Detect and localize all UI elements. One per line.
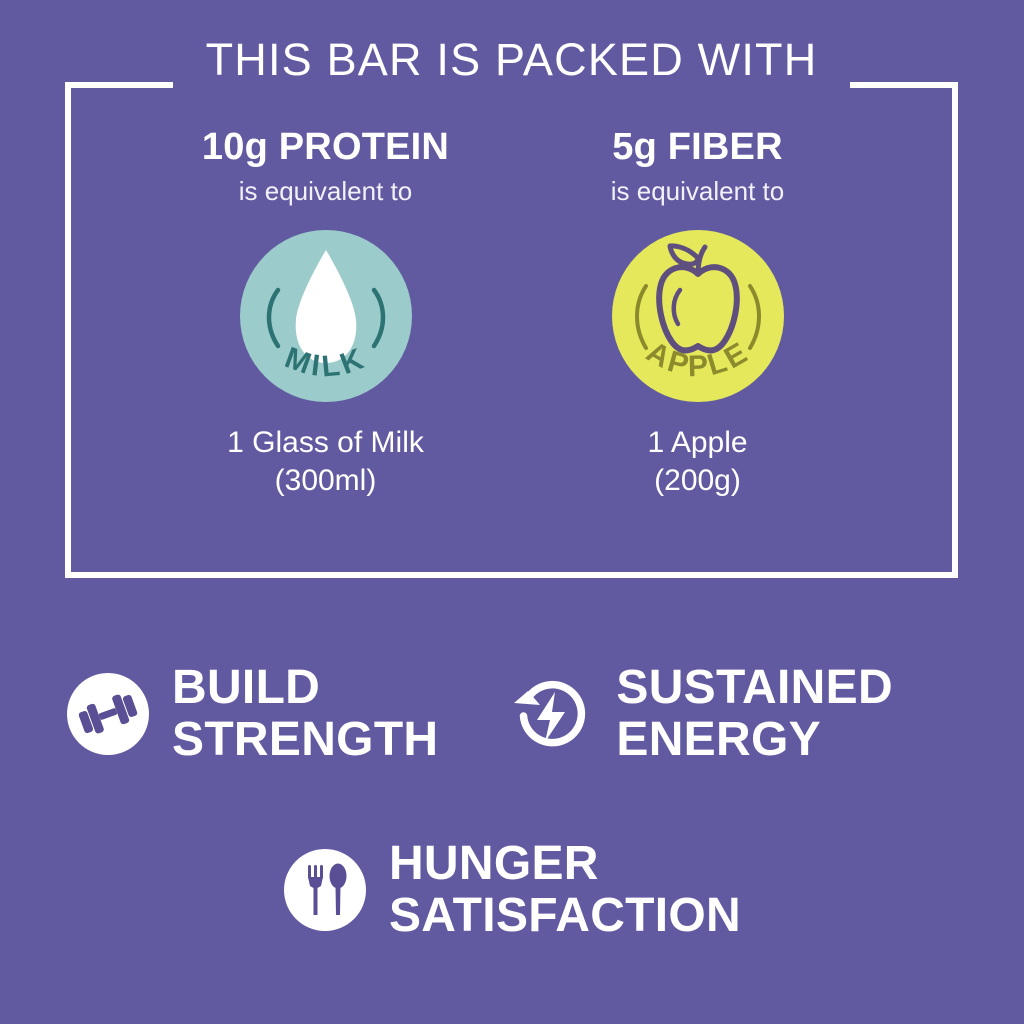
equivalence-columns: 10g PROTEIN is equivalent to bbox=[65, 126, 958, 500]
caption-milk: 1 Glass of Milk (300ml) bbox=[227, 424, 424, 500]
caption-milk-line2: (300ml) bbox=[227, 462, 424, 500]
caption-milk-line1: 1 Glass of Milk bbox=[227, 424, 424, 462]
dumbbell-icon bbox=[66, 672, 150, 756]
energy-bolt-icon bbox=[510, 672, 594, 756]
caption-apple-line1: 1 Apple bbox=[647, 424, 747, 462]
benefits-row-bottom: HUNGER SATISFACTION bbox=[0, 838, 1024, 942]
caption-apple: 1 Apple (200g) bbox=[647, 424, 747, 500]
infographic-canvas: THIS BAR IS PACKED WITH 10g PROTEIN is e… bbox=[0, 0, 1024, 1024]
nutrient-amount-fiber: 5g FIBER bbox=[612, 126, 783, 168]
frame-bottom-segment bbox=[65, 572, 958, 578]
panel-title: THIS BAR IS PACKED WITH bbox=[65, 34, 958, 86]
benefit-label-hunger-satisfaction: HUNGER SATISFACTION bbox=[389, 838, 741, 942]
apple-badge: APPLE bbox=[610, 228, 786, 404]
milk-badge: MILK bbox=[238, 228, 414, 404]
benefits-row-top: BUILD STRENGTH SUSTAINED ENERGY bbox=[0, 662, 1024, 766]
equivalent-label-fiber: is equivalent to bbox=[611, 176, 784, 206]
nutrient-amount-protein: 10g PROTEIN bbox=[202, 126, 449, 168]
benefit-sustained-energy: SUSTAINED ENERGY bbox=[510, 662, 893, 766]
packed-with-panel: THIS BAR IS PACKED WITH 10g PROTEIN is e… bbox=[65, 82, 958, 578]
benefit-label-sustained-energy: SUSTAINED ENERGY bbox=[616, 662, 893, 766]
benefit-label-build-strength: BUILD STRENGTH bbox=[172, 662, 438, 766]
equivalence-column-protein: 10g PROTEIN is equivalent to bbox=[140, 126, 512, 500]
equivalence-column-fiber: 5g FIBER is equivalent to bbox=[512, 126, 884, 500]
benefit-hunger-satisfaction: HUNGER SATISFACTION bbox=[283, 838, 741, 942]
caption-apple-line2: (200g) bbox=[647, 462, 747, 500]
benefit-build-strength: BUILD STRENGTH bbox=[66, 662, 438, 766]
fork-spoon-icon bbox=[283, 848, 367, 932]
equivalent-label-protein: is equivalent to bbox=[239, 176, 412, 206]
